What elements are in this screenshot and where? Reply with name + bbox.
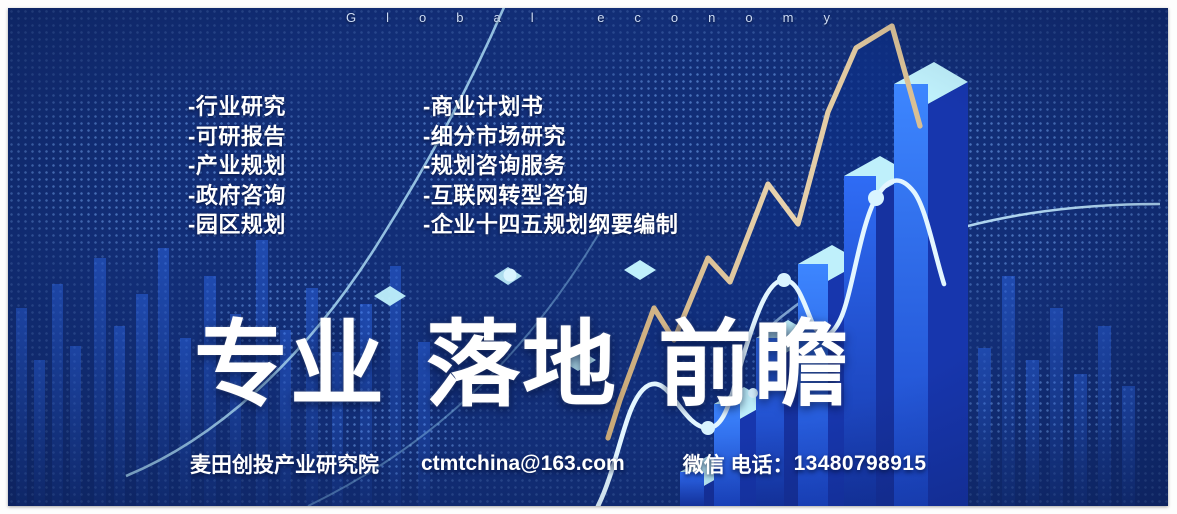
service-item: -企业十四五规划纲要编制 [423,210,678,240]
kicker-text: Global economy [8,10,1168,25]
service-item: -可研报告 [188,122,286,152]
service-item: -规划咨询服务 [423,151,678,181]
vignette-overlay [8,8,1168,506]
contact-label: 微信 电话： [683,449,794,479]
services-right-column: -商业计划书 -细分市场研究 -规划咨询服务 -互联网转型咨询 -企业十四五规划… [423,92,678,240]
org-name: 麦田创投产业研究院 [190,449,379,479]
promo-banner: Global economy -行业研究 -可研报告 -产业规划 -政府咨询 -… [8,8,1168,506]
service-item: -细分市场研究 [423,122,678,152]
footer-contact-bar: 麦田创投产业研究院ctmtchina@163.com微信 电话：13480798… [190,449,1150,479]
service-item: -行业研究 [188,92,286,122]
phone-number[interactable]: 13480798915 [794,452,927,476]
headline: 专业落地前瞻 [194,311,1024,419]
email-address[interactable]: ctmtchina@163.com [421,452,625,476]
service-item: -商业计划书 [423,92,678,122]
service-item: -政府咨询 [188,181,286,211]
headline-word-2: 落地 [426,312,618,417]
service-item: -互联网转型咨询 [423,181,678,211]
service-item: -产业规划 [188,151,286,181]
headline-word-1: 专业 [194,312,386,417]
service-item: -园区规划 [188,210,286,240]
services-left-column: -行业研究 -可研报告 -产业规划 -政府咨询 -园区规划 [188,92,286,240]
headline-word-3: 前瞻 [658,312,850,417]
